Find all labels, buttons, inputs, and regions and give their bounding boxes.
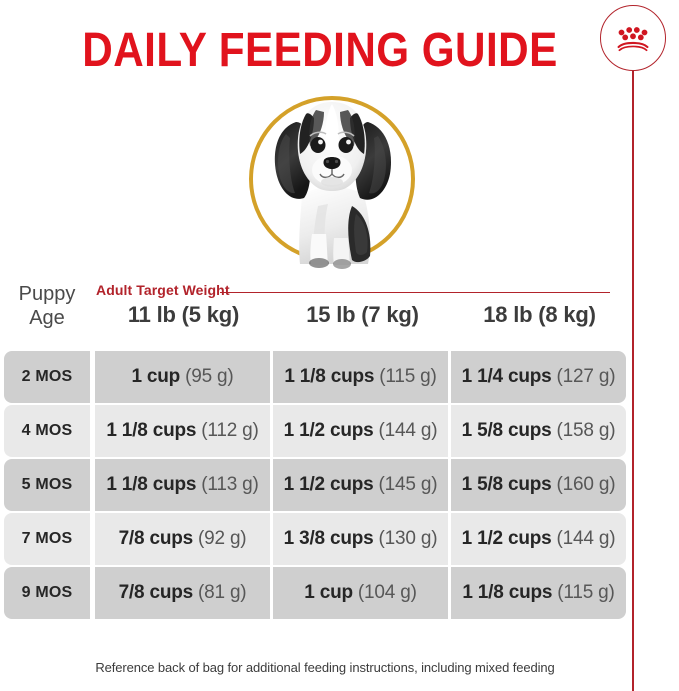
feeding-amount-cell: 1 1/2 cups(144 g): [273, 405, 448, 457]
amount-grams: (81 g): [198, 582, 246, 604]
brand-mark: [600, 5, 670, 75]
table-row: 7 MOS7/8 cups(92 g)1 3/8 cups(130 g)1 1/…: [0, 513, 679, 565]
amount-cups: 1 cup: [131, 366, 180, 388]
hero-medallion: [249, 96, 415, 262]
amount-cups: 1 1/4 cups: [462, 366, 552, 388]
feeding-amount-cell: 7/8 cups(81 g): [95, 567, 270, 619]
feeding-amount-cell: 1 1/2 cups(145 g): [273, 459, 448, 511]
cavalier-king-charles-spaniel-puppy-photo: [256, 88, 408, 266]
weight-column-header: 15 lb (7 kg): [275, 302, 450, 328]
amount-grams: (104 g): [358, 582, 417, 604]
feeding-table-body: 2 MOS1 cup(95 g)1 1/8 cups(115 g)1 1/4 c…: [0, 351, 679, 621]
amount-grams: (158 g): [557, 420, 616, 442]
feeding-amount-cell: 1 cup(104 g): [273, 567, 448, 619]
amount-cups: 1 1/2 cups: [462, 528, 552, 550]
feeding-amount-cell: 1 1/4 cups(127 g): [451, 351, 626, 403]
feeding-amount-cell: 1 5/8 cups(158 g): [451, 405, 626, 457]
puppy-age-cell: 2 MOS: [4, 351, 90, 403]
table-row: 2 MOS1 cup(95 g)1 1/8 cups(115 g)1 1/4 c…: [0, 351, 679, 403]
amount-grams: (145 g): [379, 474, 438, 496]
amount-cups: 1 1/8 cups: [106, 474, 196, 496]
amount-cups: 1 1/8 cups: [106, 420, 196, 442]
amount-grams: (130 g): [379, 528, 438, 550]
amount-cups: 1 1/2 cups: [284, 420, 374, 442]
amount-cups: 7/8 cups: [119, 528, 193, 550]
feeding-amount-cell: 7/8 cups(92 g): [95, 513, 270, 565]
feeding-amount-cell: 1 1/8 cups(115 g): [273, 351, 448, 403]
feeding-amount-cell: 1 3/8 cups(130 g): [273, 513, 448, 565]
amount-grams: (95 g): [185, 366, 233, 388]
puppy-age-header-line1: Puppy: [4, 282, 90, 306]
amount-grams: (144 g): [557, 528, 616, 550]
puppy-age-header-line2: Age: [4, 306, 90, 330]
amount-grams: (144 g): [379, 420, 438, 442]
feeding-amount-cell: 1 1/8 cups(112 g): [95, 405, 270, 457]
amount-cups: 7/8 cups: [119, 582, 193, 604]
puppy-age-cell: 5 MOS: [4, 459, 90, 511]
amount-grams: (92 g): [198, 528, 246, 550]
amount-cups: 1 5/8 cups: [462, 474, 552, 496]
feeding-amount-cell: 1 1/8 cups(115 g): [451, 567, 626, 619]
table-row: 9 MOS7/8 cups(81 g)1 cup(104 g)1 1/8 cup…: [0, 567, 679, 619]
amount-grams: (160 g): [557, 474, 616, 496]
amount-cups: 1 3/8 cups: [284, 528, 374, 550]
table-row: 5 MOS1 1/8 cups(113 g)1 1/2 cups(145 g)1…: [0, 459, 679, 511]
amount-cups: 1 1/2 cups: [284, 474, 374, 496]
royal-canin-crown-icon: [614, 24, 652, 52]
amount-grams: (113 g): [201, 474, 258, 496]
puppy-age-header: Puppy Age: [4, 282, 90, 330]
weight-column-header: 11 lb (5 kg): [96, 302, 271, 328]
amount-cups: 1 cup: [304, 582, 353, 604]
table-row: 4 MOS1 1/8 cups(112 g)1 1/2 cups(144 g)1…: [0, 405, 679, 457]
feeding-amount-cell: 1 1/2 cups(144 g): [451, 513, 626, 565]
page-title: DAILY FEEDING GUIDE: [38, 26, 601, 76]
feeding-amount-cell: 1 1/8 cups(113 g): [95, 459, 270, 511]
puppy-age-cell: 4 MOS: [4, 405, 90, 457]
amount-grams: (115 g): [557, 582, 614, 604]
feeding-amount-cell: 1 cup(95 g): [95, 351, 270, 403]
table-header: Puppy Age Adult Target Weight 11 lb (5 k…: [0, 278, 679, 346]
feeding-amount-cell: 1 5/8 cups(160 g): [451, 459, 626, 511]
puppy-age-cell: 7 MOS: [4, 513, 90, 565]
footer-note: Reference back of bag for additional fee…: [0, 660, 650, 675]
weight-column-header: 18 lb (8 kg): [452, 302, 627, 328]
amount-grams: (127 g): [557, 366, 616, 388]
amount-grams: (115 g): [379, 366, 436, 388]
amount-grams: (112 g): [201, 420, 258, 442]
amount-cups: 1 1/8 cups: [462, 582, 552, 604]
amount-cups: 1 1/8 cups: [284, 366, 374, 388]
amount-cups: 1 5/8 cups: [462, 420, 552, 442]
adult-target-weight-rule: [220, 292, 610, 293]
puppy-age-cell: 9 MOS: [4, 567, 90, 619]
adult-target-weight-label: Adult Target Weight: [96, 282, 230, 298]
